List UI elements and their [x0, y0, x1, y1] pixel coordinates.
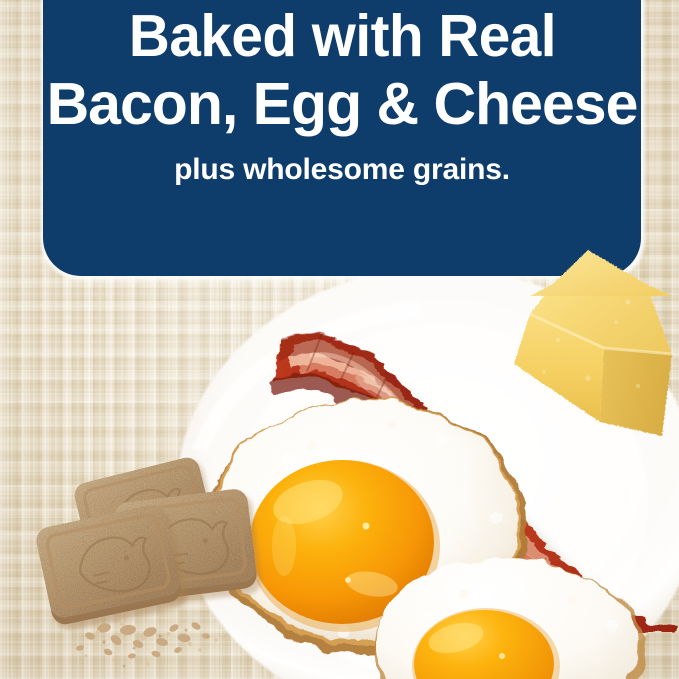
headline-banner: Baked with Real Bacon, Egg & Cheese plus…: [43, 0, 641, 276]
dog-biscuits: [20, 480, 250, 679]
banner-subline: plus wholesome grains.: [174, 152, 510, 188]
biscuit-crumbs: [75, 621, 217, 668]
headline-line-1: Baked with Real: [128, 2, 555, 70]
product-hero-image: Baked with Real Bacon, Egg & Cheese plus…: [0, 0, 679, 679]
plate-front-rim: [300, 600, 679, 679]
headline-line-2: Bacon, Egg & Cheese: [47, 70, 638, 138]
